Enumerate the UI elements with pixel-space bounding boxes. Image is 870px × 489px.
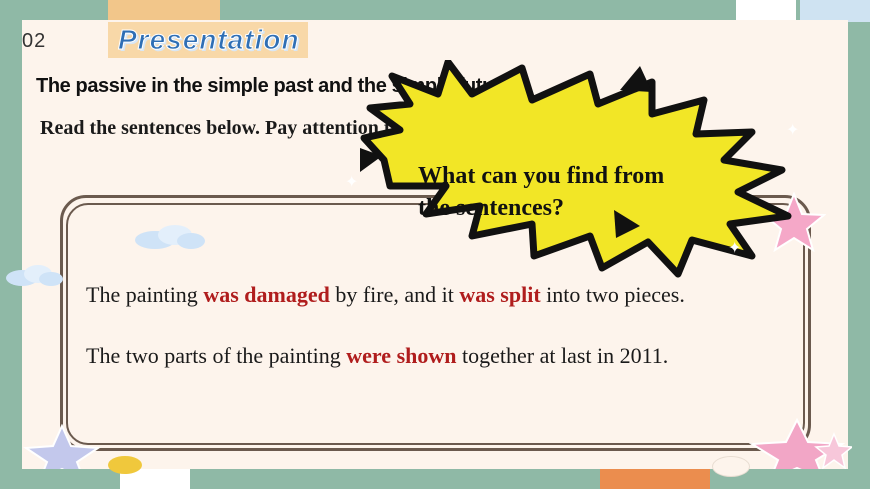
sentence-2-part-0: The two parts of the painting bbox=[86, 343, 346, 368]
cloud-icon-left bbox=[6, 262, 64, 293]
sentence-1-part-3: was split bbox=[459, 282, 540, 307]
sentence-1: The painting was damaged by fire, and it… bbox=[86, 282, 685, 308]
top-strip-orange-accent bbox=[108, 0, 220, 22]
sentence-1-part-2: by fire, and it bbox=[330, 282, 460, 307]
top-strip-white-accent bbox=[736, 0, 796, 22]
sparkle-icon-2: ✦ bbox=[786, 120, 799, 140]
sentence-1-part-0: The painting bbox=[86, 282, 203, 307]
sentence-2-part-2: together at last in 2011. bbox=[457, 343, 669, 368]
bottom-strip-orange-accent bbox=[600, 469, 710, 489]
sentence-1-part-1: was damaged bbox=[203, 282, 330, 307]
oval-decor-yellow bbox=[108, 456, 142, 474]
page-title: Presentation bbox=[118, 24, 300, 56]
top-strip-blue-accent bbox=[800, 0, 870, 22]
callout-question-line-2: the sentences? bbox=[418, 192, 738, 224]
sentence-2-part-1: were shown bbox=[346, 343, 456, 368]
section-number: 02 bbox=[22, 30, 46, 53]
cloud-icon-center bbox=[135, 222, 207, 255]
sentence-1-part-4: into two pieces. bbox=[541, 282, 685, 307]
callout-question: What can you find from the sentences? bbox=[418, 160, 738, 225]
callout-question-line-1: What can you find from bbox=[418, 160, 738, 192]
sentence-2: The two parts of the painting were shown… bbox=[86, 343, 668, 369]
oval-decor-white bbox=[712, 456, 750, 477]
sparkle-icon-1: ✦ bbox=[345, 172, 358, 192]
sparkle-icon-3: ✦ bbox=[728, 238, 741, 258]
slide-root: 02 Presentation The passive in the simpl… bbox=[0, 0, 870, 489]
